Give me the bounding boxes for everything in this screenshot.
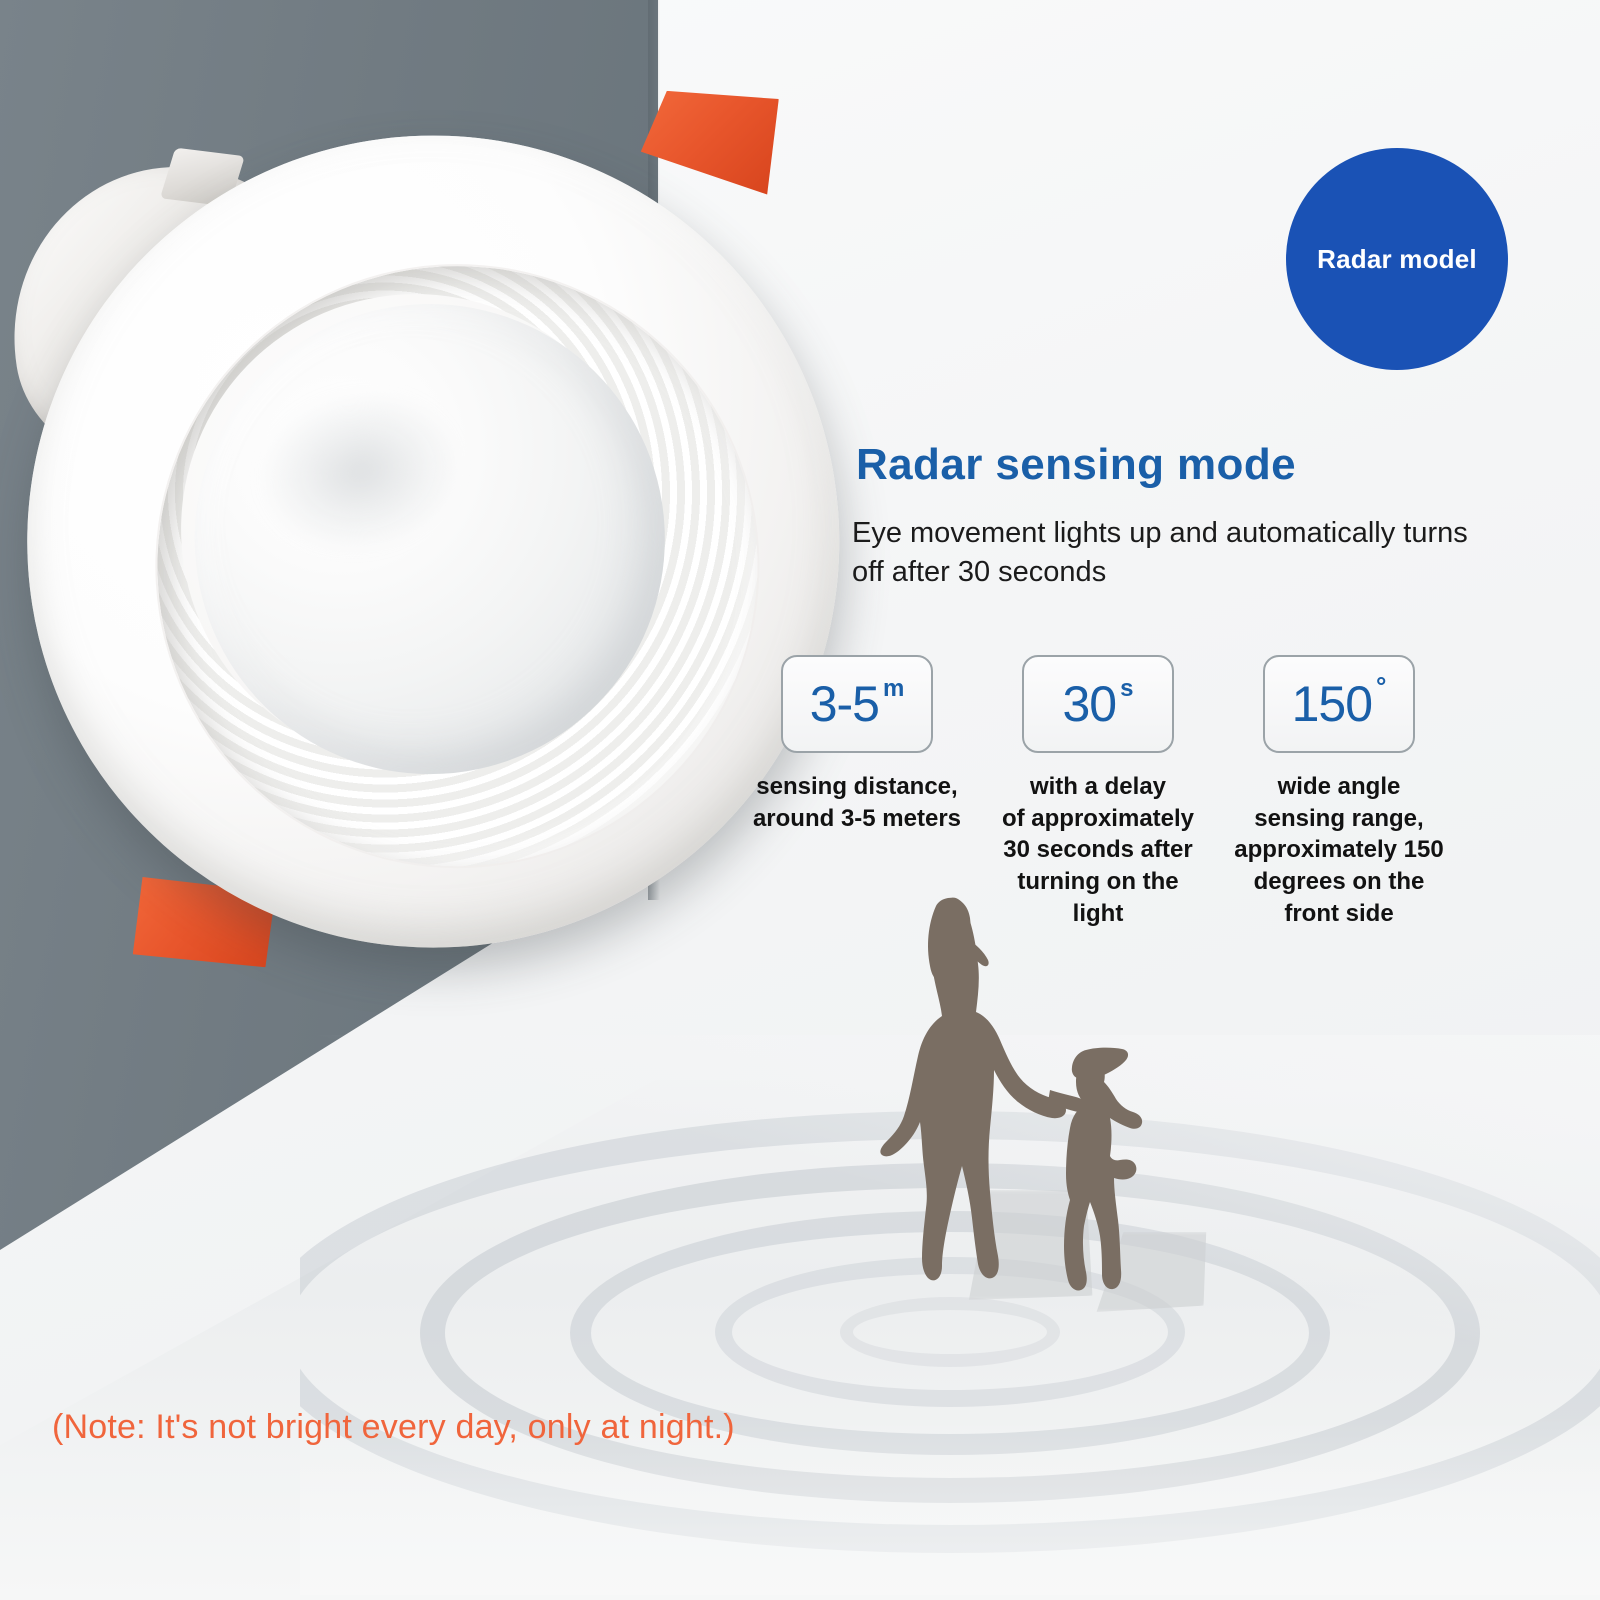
spec-chip-angle: 150 ° — [1263, 655, 1415, 753]
radar-model-badge-label: Radar model — [1317, 244, 1477, 275]
spec-caption-angle: wide angle sensing range, approximately … — [1230, 771, 1448, 929]
radar-model-badge: Radar model — [1286, 148, 1508, 370]
spec-value-distance: 3-5 — [810, 679, 879, 729]
spec-item-delay: 30 s with a delay of approximately 30 se… — [989, 655, 1207, 929]
spec-item-angle: 150 ° wide angle sensing range, approxim… — [1230, 655, 1448, 929]
infographic-canvas: Radar model Radar sensing mode Eye movem… — [0, 0, 1600, 1600]
footnote-text: (Note: It's not bright every day, only a… — [52, 1408, 735, 1447]
child-cap — [1072, 1048, 1128, 1080]
spec-badge-row: 3-5 m sensing distance, around 3-5 meter… — [748, 655, 1448, 929]
spec-item-distance: 3-5 m sensing distance, around 3-5 meter… — [748, 655, 966, 929]
page-subtitle: Eye movement lights up and automatically… — [852, 514, 1492, 591]
spec-chip-delay: 30 s — [1022, 655, 1174, 753]
spec-caption-delay: with a delay of approximately 30 seconds… — [989, 771, 1207, 929]
page-title: Radar sensing mode — [856, 440, 1296, 490]
spec-chip-distance: 3-5 m — [781, 655, 933, 753]
spec-value-delay: 30 — [1063, 679, 1117, 729]
spec-value-angle: 150 — [1292, 679, 1372, 729]
child-silhouette — [1064, 1056, 1142, 1291]
ripple-ring-1 — [840, 1297, 1060, 1367]
spec-unit-meters: m — [883, 677, 904, 701]
spring-clip-top-right — [636, 81, 787, 205]
spec-caption-distance: sensing distance, around 3-5 meters — [748, 771, 966, 834]
spec-unit-degrees: ° — [1376, 673, 1386, 699]
spec-unit-seconds: s — [1120, 677, 1133, 701]
